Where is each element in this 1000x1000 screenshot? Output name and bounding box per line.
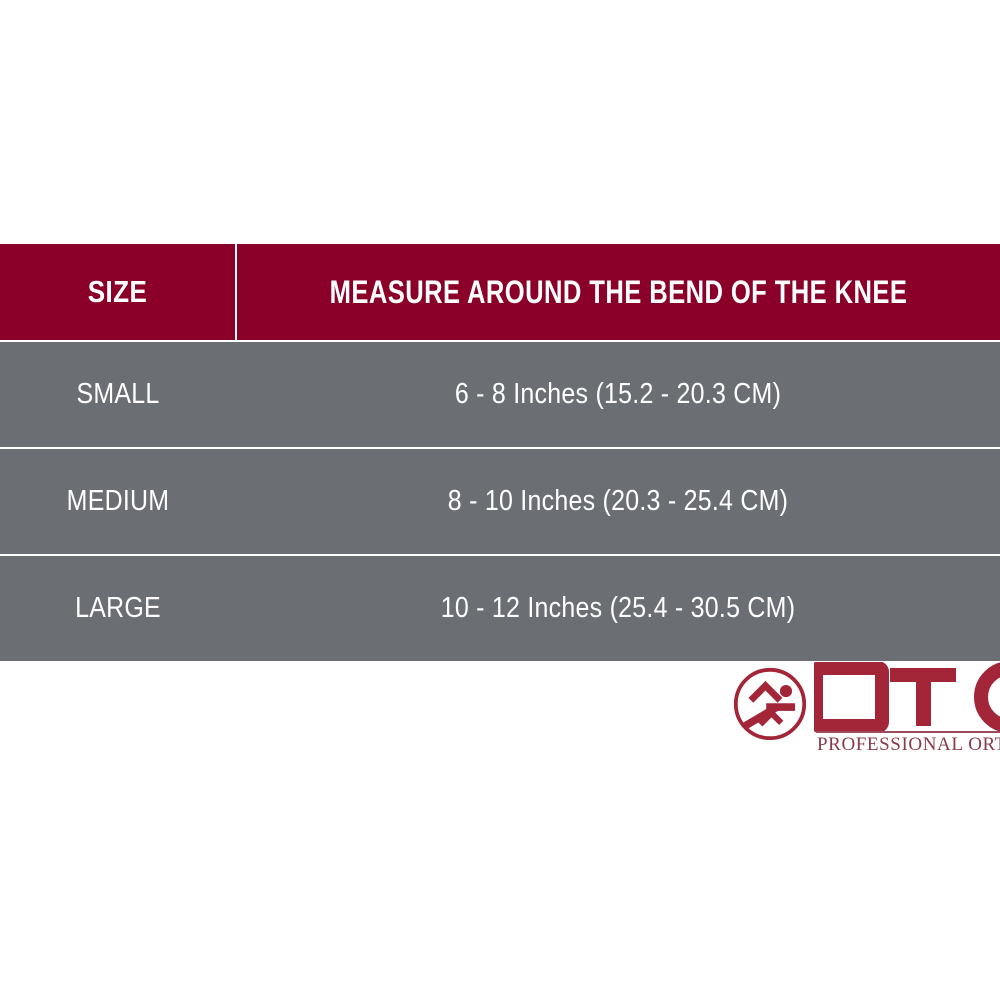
column-header-size-label: SIZE <box>19 274 216 310</box>
column-header-measure: MEASURE AROUND THE BEND OF THE KNEE <box>236 244 1000 341</box>
size-label: MEDIUM <box>17 485 220 518</box>
otc-logo: PROFESSIONAL ORTHOPAEDIC <box>732 662 1000 762</box>
measure-label: 8 - 10 Inches (20.3 - 25.4 CM) <box>289 485 946 518</box>
column-header-size: SIZE <box>0 244 236 341</box>
table-row: LARGE 10 - 12 Inches (25.4 - 30.5 CM) <box>0 555 1000 661</box>
cell-measure-large: 10 - 12 Inches (25.4 - 30.5 CM) <box>236 555 1000 661</box>
column-header-measure-label: MEASURE AROUND THE BEND OF THE KNEE <box>313 274 923 311</box>
size-label: SMALL <box>17 378 220 411</box>
cell-measure-medium: 8 - 10 Inches (20.3 - 25.4 CM) <box>236 448 1000 555</box>
measure-label: 10 - 12 Inches (25.4 - 30.5 CM) <box>289 592 946 625</box>
cell-size-large: LARGE <box>0 555 236 661</box>
cell-size-small: SMALL <box>0 341 236 448</box>
logo-divider-rule <box>816 731 1000 733</box>
table-row: MEDIUM 8 - 10 Inches (20.3 - 25.4 CM) <box>0 448 1000 555</box>
table-header-row: SIZE MEASURE AROUND THE BEND OF THE KNEE <box>0 244 1000 341</box>
size-label: LARGE <box>17 592 220 625</box>
cell-size-medium: MEDIUM <box>0 448 236 555</box>
size-chart-table: SIZE MEASURE AROUND THE BEND OF THE KNEE… <box>0 244 1000 661</box>
otc-wordmark <box>814 662 1000 734</box>
running-figure-icon <box>732 666 808 742</box>
logo-tagline: PROFESSIONAL ORTHOPAEDIC <box>817 734 1000 756</box>
table-row: SMALL 6 - 8 Inches (15.2 - 20.3 CM) <box>0 341 1000 448</box>
cell-measure-small: 6 - 8 Inches (15.2 - 20.3 CM) <box>236 341 1000 448</box>
measure-label: 6 - 8 Inches (15.2 - 20.3 CM) <box>289 378 946 411</box>
